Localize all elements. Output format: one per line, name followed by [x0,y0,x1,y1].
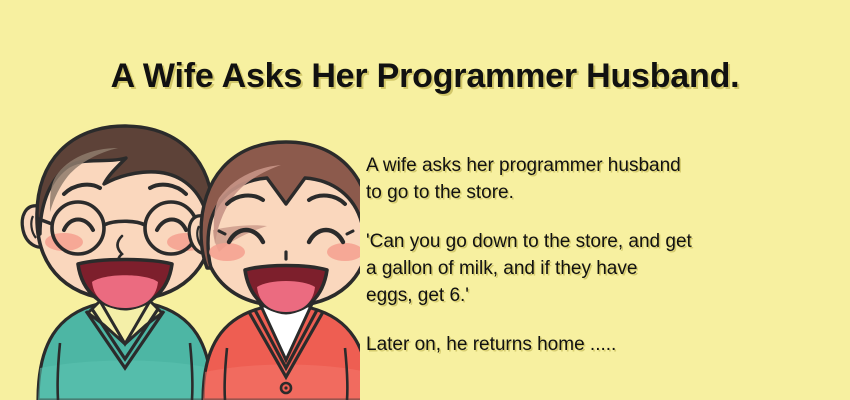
wife-figure [189,142,360,400]
story-paragraph-1: A wife asks her programmer husband to go… [366,152,826,206]
page-title: A Wife Asks Her Programmer Husband. [0,57,850,96]
story-paragraph-2: 'Can you go down to the store, and get a… [366,228,826,309]
characters-svg [0,118,360,400]
wife-cardigan-button-hole [284,386,287,389]
characters-illustration [0,118,360,400]
husband-figure [22,126,228,400]
story-text: A wife asks her programmer husband to go… [366,152,826,358]
wife-cheek-left [209,243,245,261]
story-paragraph-3: Later on, he returns home ..... [366,331,826,358]
meme-image: A Wife Asks Her Programmer Husband. [0,0,850,400]
